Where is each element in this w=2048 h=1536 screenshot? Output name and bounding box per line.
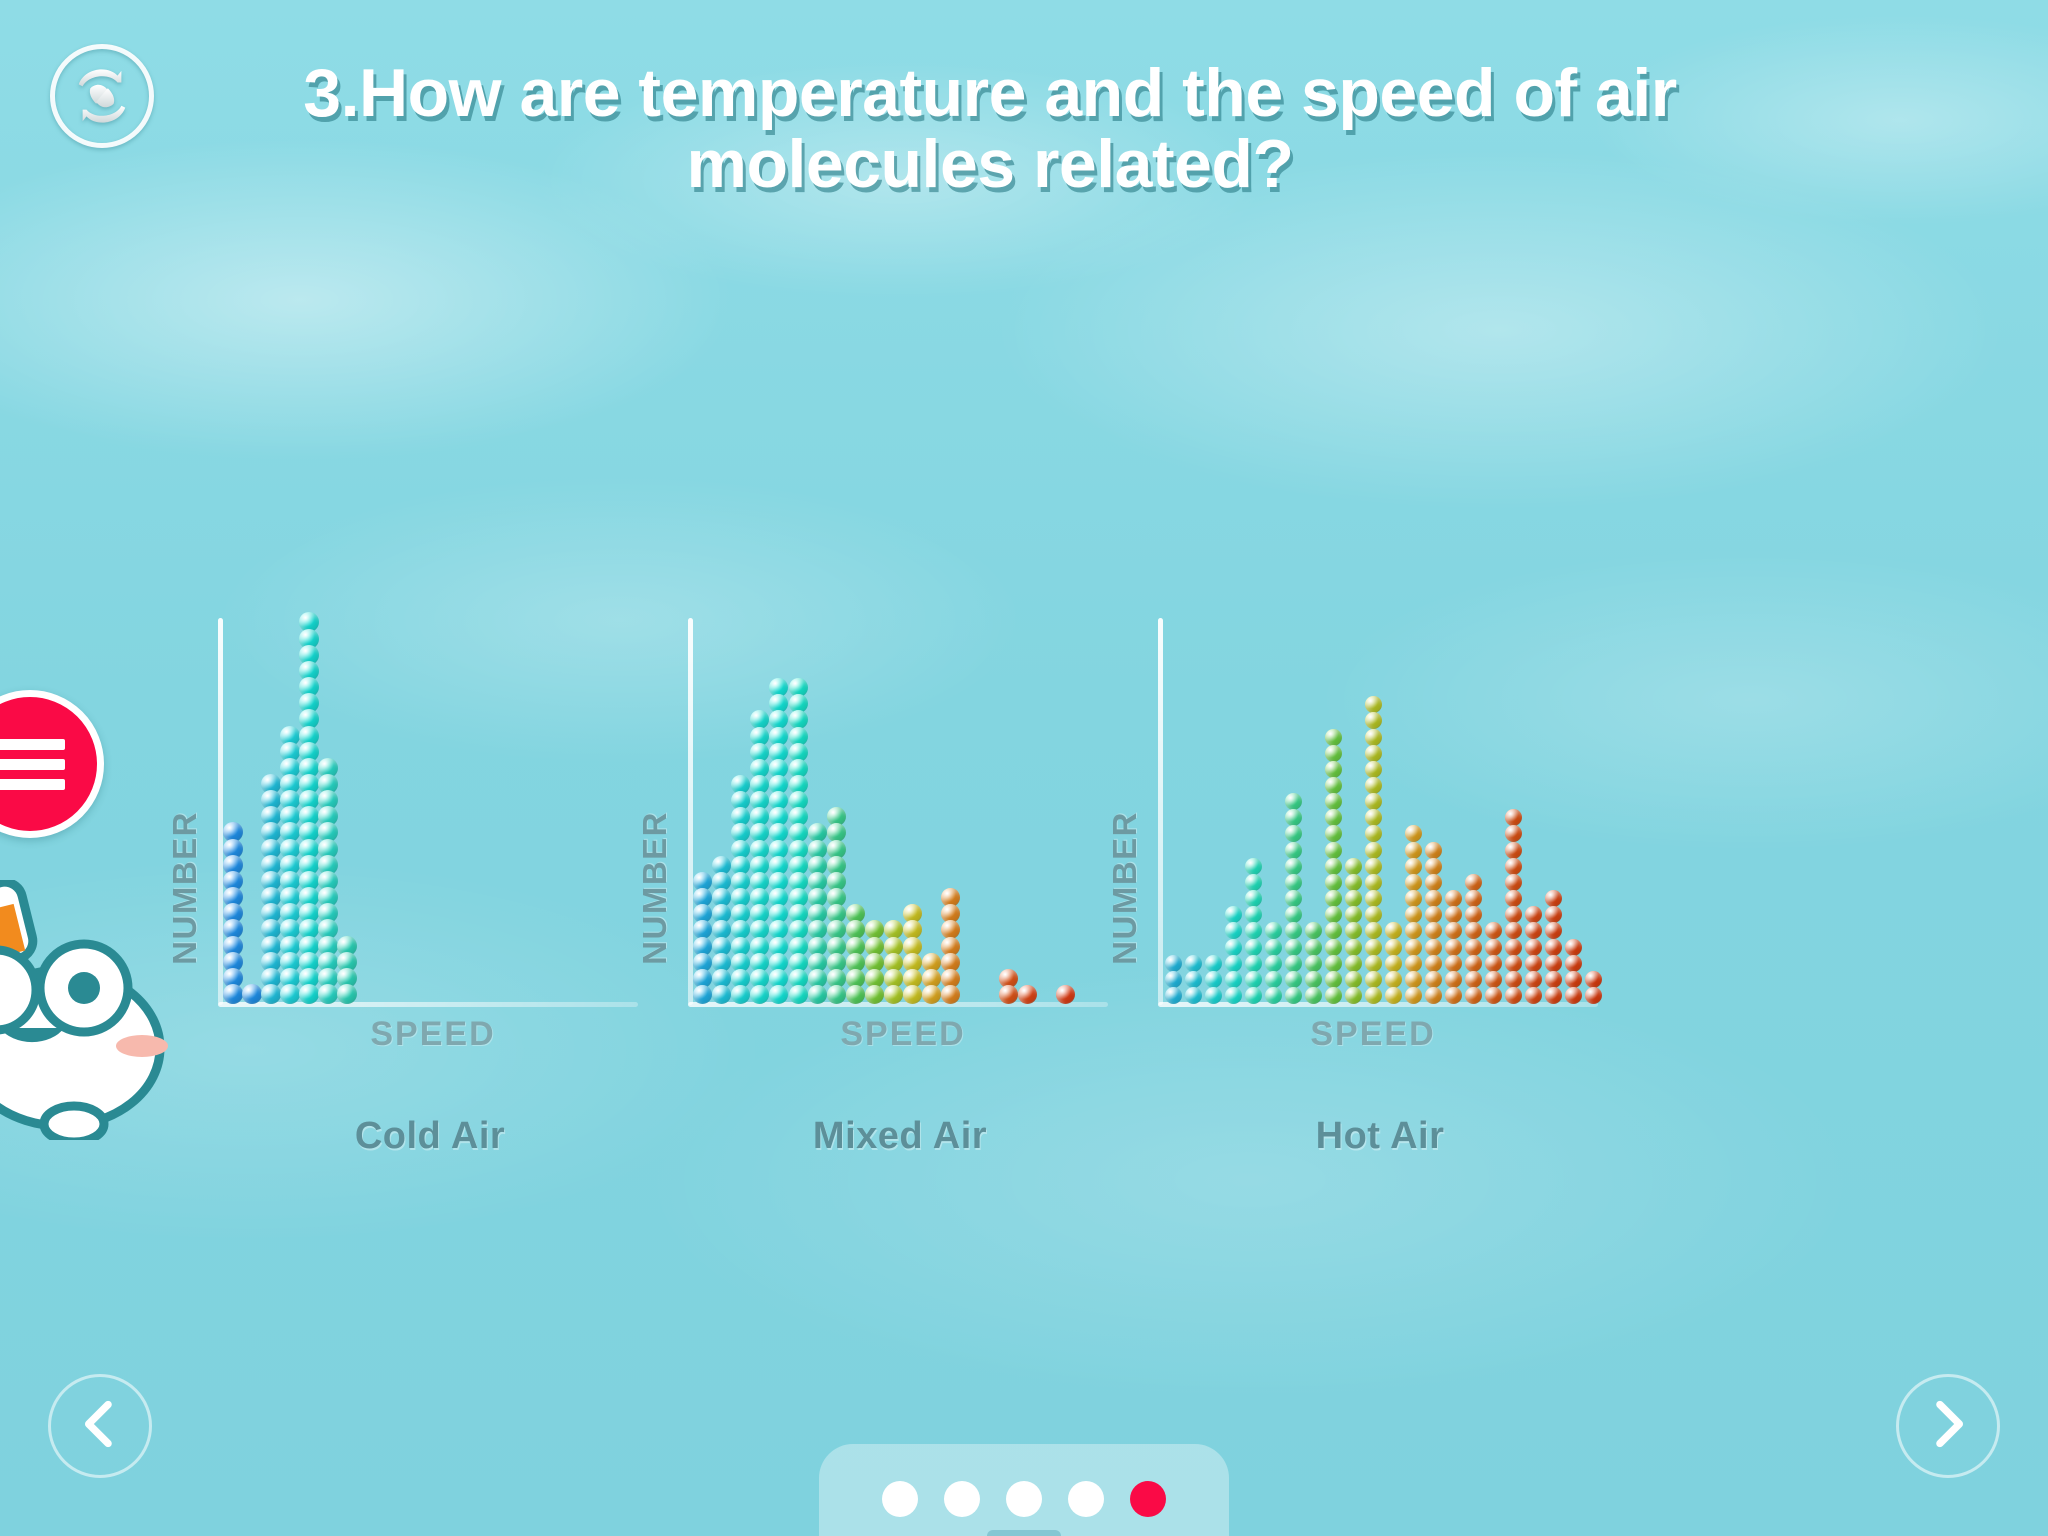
molecule-column	[280, 729, 300, 1004]
molecule-column	[1018, 988, 1037, 1004]
molecule-column	[1385, 923, 1402, 1004]
molecule-dot	[1545, 922, 1562, 939]
molecule-dot	[1325, 793, 1342, 810]
page-dot[interactable]	[882, 1481, 918, 1517]
molecule-dot	[1265, 955, 1282, 972]
molecule-dot	[1545, 987, 1562, 1004]
molecule-dot	[1365, 922, 1382, 939]
molecule-dot	[1205, 987, 1222, 1004]
molecule-dot	[337, 984, 357, 1004]
chart-hot-air: NUMBER SPEED Hot Air	[1110, 560, 1650, 1200]
molecule-dot	[1325, 890, 1342, 907]
molecule-column	[1285, 794, 1302, 1004]
molecule-dot	[1325, 745, 1342, 762]
molecule-dot	[1385, 939, 1402, 956]
molecule-dot	[1545, 890, 1562, 907]
molecule-dot	[1305, 971, 1322, 988]
chart-mixed-air: NUMBER SPEED Mixed Air	[640, 560, 1160, 1200]
molecule-dot	[941, 985, 960, 1004]
molecule-dot	[1485, 987, 1502, 1004]
molecule-dot	[1405, 906, 1422, 923]
molecule-dot	[884, 985, 903, 1004]
molecule-column	[1165, 956, 1182, 1004]
molecule-column	[223, 826, 243, 1004]
molecule-column	[1185, 956, 1202, 1004]
molecule-dot	[1505, 842, 1522, 859]
molecule-column	[884, 923, 903, 1004]
molecule-dot	[1405, 842, 1422, 859]
molecule-dot	[1245, 922, 1262, 939]
molecule-dot	[223, 984, 243, 1004]
molecule-dot	[1265, 939, 1282, 956]
molecule-column	[318, 762, 338, 1004]
molecule-dot	[1465, 890, 1482, 907]
molecule-column	[1325, 729, 1342, 1004]
molecule-dot	[1385, 971, 1402, 988]
molecule-column	[1405, 826, 1422, 1004]
molecule-dot	[1445, 922, 1462, 939]
refresh-icon	[71, 65, 133, 127]
molecule-dot	[1305, 955, 1322, 972]
molecule-dot	[1425, 858, 1442, 875]
molecule-dot	[1245, 874, 1262, 891]
molecule-column	[827, 810, 846, 1004]
molecule-dot	[1185, 971, 1202, 988]
molecule-dot	[1525, 939, 1542, 956]
molecule-column	[1465, 875, 1482, 1004]
molecule-dot	[1245, 971, 1262, 988]
chevron-left-icon	[74, 1398, 126, 1455]
molecule-dot	[731, 985, 750, 1004]
molecule-dot	[1245, 858, 1262, 875]
molecule-dot	[1325, 842, 1342, 859]
molecule-dot	[1505, 809, 1522, 826]
next-page-button[interactable]	[1896, 1374, 2000, 1478]
molecule-dot	[1225, 906, 1242, 923]
molecule-dot	[1465, 955, 1482, 972]
molecule-column	[1205, 956, 1222, 1004]
molecule-dot	[1445, 890, 1462, 907]
molecule-dot	[846, 985, 865, 1004]
molecule-dot	[1345, 858, 1362, 875]
molecule-dot	[1585, 987, 1602, 1004]
molecule-dot	[999, 985, 1018, 1004]
molecule-dot	[1565, 955, 1582, 972]
page-indicator[interactable]	[819, 1444, 1229, 1536]
molecule-column	[1265, 923, 1282, 1004]
molecule-dot	[1225, 955, 1242, 972]
molecule-dot	[1445, 955, 1462, 972]
molecule-column	[808, 826, 827, 1004]
molecule-dot	[1545, 906, 1562, 923]
molecule-dot	[1365, 906, 1382, 923]
molecule-dot	[1505, 858, 1522, 875]
molecule-dot	[1345, 890, 1362, 907]
molecule-dot	[1285, 987, 1302, 1004]
chart-caption-hot-air: Hot Air	[1110, 1115, 1650, 1158]
molecule-dot	[1505, 906, 1522, 923]
molecule-dot	[1185, 987, 1202, 1004]
molecule-dot	[1285, 858, 1302, 875]
chevron-right-icon	[1922, 1398, 1974, 1455]
molecule-dot	[1465, 971, 1482, 988]
plot-area-hot-air	[1163, 574, 1603, 1004]
molecule-dot	[1225, 922, 1242, 939]
page-dot[interactable]	[1130, 1481, 1166, 1517]
molecule-dot	[1018, 985, 1037, 1004]
molecule-dot	[1385, 955, 1402, 972]
molecule-dot	[1425, 939, 1442, 956]
molecule-dot	[1345, 874, 1362, 891]
molecule-dot	[1545, 955, 1562, 972]
molecule-dot	[1365, 825, 1382, 842]
molecule-column	[712, 859, 731, 1004]
molecule-column	[1245, 859, 1262, 1004]
molecule-dot	[1345, 987, 1362, 1004]
molecule-dot	[1485, 939, 1502, 956]
molecule-dot	[1545, 939, 1562, 956]
molecule-dot	[1545, 971, 1562, 988]
molecule-column	[1565, 939, 1582, 1004]
molecule-dot	[1285, 842, 1302, 859]
molecule-dot	[1505, 939, 1522, 956]
molecule-dot	[1365, 890, 1382, 907]
molecule-dot	[1325, 906, 1342, 923]
molecule-column	[242, 988, 262, 1004]
molecule-dot	[1325, 809, 1342, 826]
y-axis-label: NUMBER	[1106, 811, 1144, 965]
molecule-dot	[1585, 971, 1602, 988]
molecule-column	[1585, 972, 1602, 1004]
molecule-dot	[1505, 874, 1522, 891]
molecule-column	[1056, 988, 1075, 1004]
chart-caption-cold-air: Cold Air	[170, 1115, 690, 1158]
molecule-dot	[1265, 922, 1282, 939]
molecule-dot	[1325, 922, 1342, 939]
x-axis-label: SPEED	[1158, 1015, 1588, 1054]
molecule-dot	[1405, 858, 1422, 875]
molecule-dot	[1365, 842, 1382, 859]
y-axis-label: NUMBER	[636, 811, 674, 965]
molecule-dot	[1305, 987, 1322, 1004]
molecule-dot	[1405, 922, 1422, 939]
molecule-dot	[712, 985, 731, 1004]
molecule-column	[1445, 891, 1462, 1004]
chart-caption-mixed-air: Mixed Air	[640, 1115, 1160, 1158]
page-dot[interactable]	[944, 1481, 980, 1517]
molecule-dot	[1365, 858, 1382, 875]
molecule-dot	[1325, 955, 1342, 972]
molecule-dot	[1465, 939, 1482, 956]
molecule-column	[337, 939, 357, 1004]
molecule-dot	[1185, 955, 1202, 972]
molecule-dot	[1385, 987, 1402, 1004]
molecule-dot	[1305, 939, 1322, 956]
molecule-dot	[1505, 825, 1522, 842]
molecule-dot	[1325, 987, 1342, 1004]
molecule-dot	[903, 985, 922, 1004]
molecule-dot	[261, 984, 281, 1004]
molecule-dot	[693, 985, 712, 1004]
molecule-dot	[1505, 971, 1522, 988]
molecule-dot	[1465, 922, 1482, 939]
x-axis-label: SPEED	[218, 1015, 648, 1054]
molecule-dot	[1405, 874, 1422, 891]
molecule-dot	[1485, 955, 1502, 972]
molecule-dot	[1525, 922, 1542, 939]
molecule-dot	[1445, 906, 1462, 923]
molecule-dot	[865, 985, 884, 1004]
molecule-dot	[1485, 971, 1502, 988]
prev-page-button[interactable]	[48, 1374, 152, 1478]
molecule-dot	[1425, 922, 1442, 939]
molecule-dot	[1285, 890, 1302, 907]
page-dot[interactable]	[1068, 1481, 1104, 1517]
molecule-dot	[1425, 987, 1442, 1004]
molecule-column	[1485, 923, 1502, 1004]
molecule-dot	[1165, 971, 1182, 988]
molecule-dot	[1425, 890, 1442, 907]
molecule-dot	[1425, 874, 1442, 891]
molecule-dot	[1505, 987, 1522, 1004]
molecule-dot	[1565, 987, 1582, 1004]
molecule-column	[789, 681, 808, 1004]
page-header: 3.How are temperature and the speed of a…	[0, 0, 2048, 260]
molecule-dot	[1365, 712, 1382, 729]
molecule-dot	[1285, 955, 1302, 972]
molecule-dot	[1365, 955, 1382, 972]
molecule-column	[1505, 810, 1522, 1004]
molecule-dot	[1225, 987, 1242, 1004]
molecule-dot	[299, 984, 319, 1004]
molecule-dot	[1056, 985, 1075, 1004]
molecule-column	[999, 972, 1018, 1004]
molecule-dot	[1525, 906, 1542, 923]
molecule-dot	[1245, 987, 1262, 1004]
molecule-column	[903, 907, 922, 1004]
molecule-dot	[1445, 939, 1462, 956]
molecule-dot	[1285, 971, 1302, 988]
molecule-dot	[1325, 777, 1342, 794]
molecule-column	[731, 778, 750, 1004]
molecule-dot	[1325, 761, 1342, 778]
molecule-dot	[1365, 793, 1382, 810]
molecule-dot	[1345, 971, 1362, 988]
molecule-dot	[1345, 906, 1362, 923]
molecule-dot	[922, 985, 941, 1004]
molecule-column	[261, 778, 281, 1004]
molecule-dot	[1465, 906, 1482, 923]
molecule-column	[1545, 891, 1562, 1004]
molecule-dot	[1285, 922, 1302, 939]
molecule-dot	[1345, 922, 1362, 939]
molecule-column	[769, 681, 788, 1004]
molecule-dot	[1325, 874, 1342, 891]
molecule-dot	[1165, 955, 1182, 972]
molecule-dot	[1425, 955, 1442, 972]
molecule-dot	[808, 985, 827, 1004]
molecule-column	[1345, 859, 1362, 1004]
molecule-dot	[1405, 825, 1422, 842]
molecule-dot	[280, 984, 300, 1004]
molecule-dot	[1505, 890, 1522, 907]
molecule-dot	[1365, 939, 1382, 956]
molecule-dot	[827, 985, 846, 1004]
molecule-dot	[1285, 906, 1302, 923]
molecule-column	[1225, 907, 1242, 1004]
molecule-dot	[1325, 825, 1342, 842]
charts-row: NUMBER SPEED Cold Air NUMBER SPEED Mixed…	[0, 560, 2048, 1200]
molecule-dot	[1445, 987, 1462, 1004]
molecule-dot	[1445, 971, 1462, 988]
x-axis-label: SPEED	[688, 1015, 1118, 1054]
page-dot[interactable]	[1006, 1481, 1042, 1517]
molecule-dot	[1365, 729, 1382, 746]
molecule-dot	[1285, 793, 1302, 810]
molecule-dot	[1245, 890, 1262, 907]
molecule-dot	[1405, 955, 1422, 972]
molecule-dot	[1405, 890, 1422, 907]
molecule-column	[846, 907, 865, 1004]
molecule-dot	[1325, 971, 1342, 988]
molecule-dot	[1365, 971, 1382, 988]
molecule-dot	[1265, 987, 1282, 1004]
molecule-dot	[1285, 825, 1302, 842]
molecule-dot	[1365, 874, 1382, 891]
molecule-dot	[1325, 729, 1342, 746]
molecule-dot	[769, 985, 788, 1004]
molecule-dot	[1565, 971, 1582, 988]
refresh-button[interactable]	[50, 44, 154, 148]
molecule-dot	[1365, 809, 1382, 826]
home-indicator	[987, 1530, 1061, 1536]
molecule-dot	[1365, 777, 1382, 794]
molecule-dot	[1245, 955, 1262, 972]
molecule-dot	[1505, 955, 1522, 972]
chart-cold-air: NUMBER SPEED Cold Air	[170, 560, 690, 1200]
molecule-dot	[1505, 922, 1522, 939]
y-axis-label: NUMBER	[166, 811, 204, 965]
molecule-dot	[318, 984, 338, 1004]
molecule-column	[1305, 923, 1322, 1004]
molecule-dot	[1285, 809, 1302, 826]
molecule-column	[941, 891, 960, 1004]
molecule-dot	[1365, 987, 1382, 1004]
molecule-dot	[789, 985, 808, 1004]
molecule-dot	[1485, 922, 1502, 939]
page-title: 3.How are temperature and the speed of a…	[180, 58, 1800, 201]
molecule-dot	[1245, 939, 1262, 956]
molecule-dot	[750, 985, 769, 1004]
molecule-dot	[1525, 955, 1542, 972]
molecule-dot	[1245, 906, 1262, 923]
molecule-dot	[1225, 971, 1242, 988]
molecule-dot	[1405, 971, 1422, 988]
molecule-column	[865, 923, 884, 1004]
molecule-column	[1365, 697, 1382, 1004]
molecule-dot	[1425, 842, 1442, 859]
molecule-dot	[1325, 858, 1342, 875]
molecule-dot	[1345, 955, 1362, 972]
molecule-dot	[1365, 696, 1382, 713]
molecule-dot	[1405, 939, 1422, 956]
molecule-dot	[1305, 922, 1322, 939]
molecule-dot	[1365, 761, 1382, 778]
molecule-dot	[1565, 939, 1582, 956]
molecule-dot	[1225, 939, 1242, 956]
molecule-dot	[1365, 745, 1382, 762]
molecule-dot	[1385, 922, 1402, 939]
molecule-dot	[1165, 987, 1182, 1004]
molecule-dot	[1205, 971, 1222, 988]
molecule-dot	[1205, 955, 1222, 972]
molecule-dot	[1425, 906, 1442, 923]
molecule-column	[1525, 907, 1542, 1004]
molecule-dot	[1265, 971, 1282, 988]
plot-area-cold-air	[223, 574, 643, 1004]
molecule-dot	[1285, 874, 1302, 891]
molecule-dot	[1405, 987, 1422, 1004]
molecule-dot	[1325, 939, 1342, 956]
molecule-column	[299, 616, 319, 1004]
molecule-dot	[1465, 987, 1482, 1004]
molecule-dot	[1345, 939, 1362, 956]
molecule-dot	[1425, 971, 1442, 988]
plot-area-mixed-air	[693, 574, 1113, 1004]
molecule-dot	[242, 984, 262, 1004]
molecule-column	[750, 713, 769, 1004]
molecule-column	[693, 875, 712, 1004]
molecule-dot	[1525, 971, 1542, 988]
molecule-dot	[1525, 987, 1542, 1004]
molecule-dot	[1285, 939, 1302, 956]
molecule-dot	[1465, 874, 1482, 891]
molecule-column	[922, 956, 941, 1004]
molecule-column	[1425, 842, 1442, 1004]
